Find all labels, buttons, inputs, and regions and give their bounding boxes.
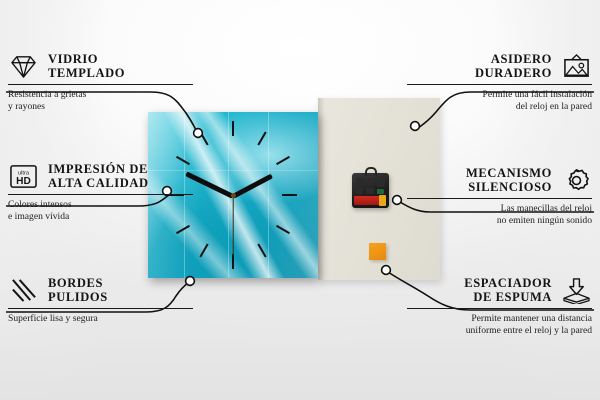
feature-header: BORDES PULIDOS [8,276,193,304]
feature-divider [407,84,592,85]
feature-title: BORDES PULIDOS [48,276,108,304]
diamond-icon [8,53,39,80]
feature-desc-line2: uniforme entre el reloj y la pared [407,325,592,337]
feature-header: VIDRIO TEMPLADO [8,52,193,80]
feature-title: ASIDERO DURADERO [475,52,552,80]
gear-icon [561,167,592,194]
feature-title: ESPACIADOR DE ESPUMA [464,276,552,304]
wire-endpoint-espaciador [382,266,391,275]
feature-divider [8,194,193,195]
feature-divider [407,198,592,199]
feature-divider [8,308,193,309]
feature-divider [8,84,193,85]
feature-title: VIDRIO TEMPLADO [48,52,125,80]
feature-mecanismo-silencioso: MECANISMO SILENCIOSO Las manecillas del … [407,166,592,226]
ultra-hd-icon: ultra HD [8,163,39,190]
feature-title: MECANISMO SILENCIOSO [466,166,552,194]
feature-desc-line2: no emiten ningún sonido [407,215,592,227]
feature-desc-line1: Colores intensos [8,199,193,211]
feature-bordes-pulidos: BORDES PULIDOS Superficie lisa y segura [8,276,193,325]
feature-desc-line2: e imagen vívida [8,211,193,223]
feature-desc-line1: Superficie lisa y segura [8,313,193,325]
feature-desc-line1: Permite una fácil instalación [407,89,592,101]
feature-header: ESPACIADOR DE ESPUMA [407,276,592,304]
feature-impresion-alta-calidad: ultra HD IMPRESIÓN DE ALTA CALIDAD Color… [8,162,193,222]
wall-hanger-frame-icon [561,53,592,80]
feature-title: IMPRESIÓN DE ALTA CALIDAD [48,162,149,190]
feature-header: ultra HD IMPRESIÓN DE ALTA CALIDAD [8,162,193,190]
feature-desc-line1: Permite mantener una distancia [407,313,592,325]
feature-desc-line2: del reloj en la pared [407,101,592,113]
wire-endpoint-asidero [411,122,420,131]
wire-endpoint-mecanismo [393,196,402,205]
feature-header: MECANISMO SILENCIOSO [407,166,592,194]
feature-desc-line1: Resistencia a grietas [8,89,193,101]
feature-espaciador-de-espuma: ESPACIADOR DE ESPUMA Permite mantener un… [407,276,592,336]
feature-vidrio-templado: VIDRIO TEMPLADO Resistencia a grietas y … [8,52,193,112]
feature-desc-line1: Las manecillas del reloj [407,203,592,215]
wire-endpoint-vidrio [194,129,203,138]
feature-header: ASIDERO DURADERO [407,52,592,80]
feature-divider [407,308,592,309]
foam-spacer-arrow-icon [561,277,592,304]
polished-edges-icon [8,277,39,304]
svg-text:HD: HD [16,176,31,187]
feature-desc-line2: y rayones [8,101,193,113]
feature-asidero-duradero: ASIDERO DURADERO Permite una fácil insta… [407,52,592,112]
